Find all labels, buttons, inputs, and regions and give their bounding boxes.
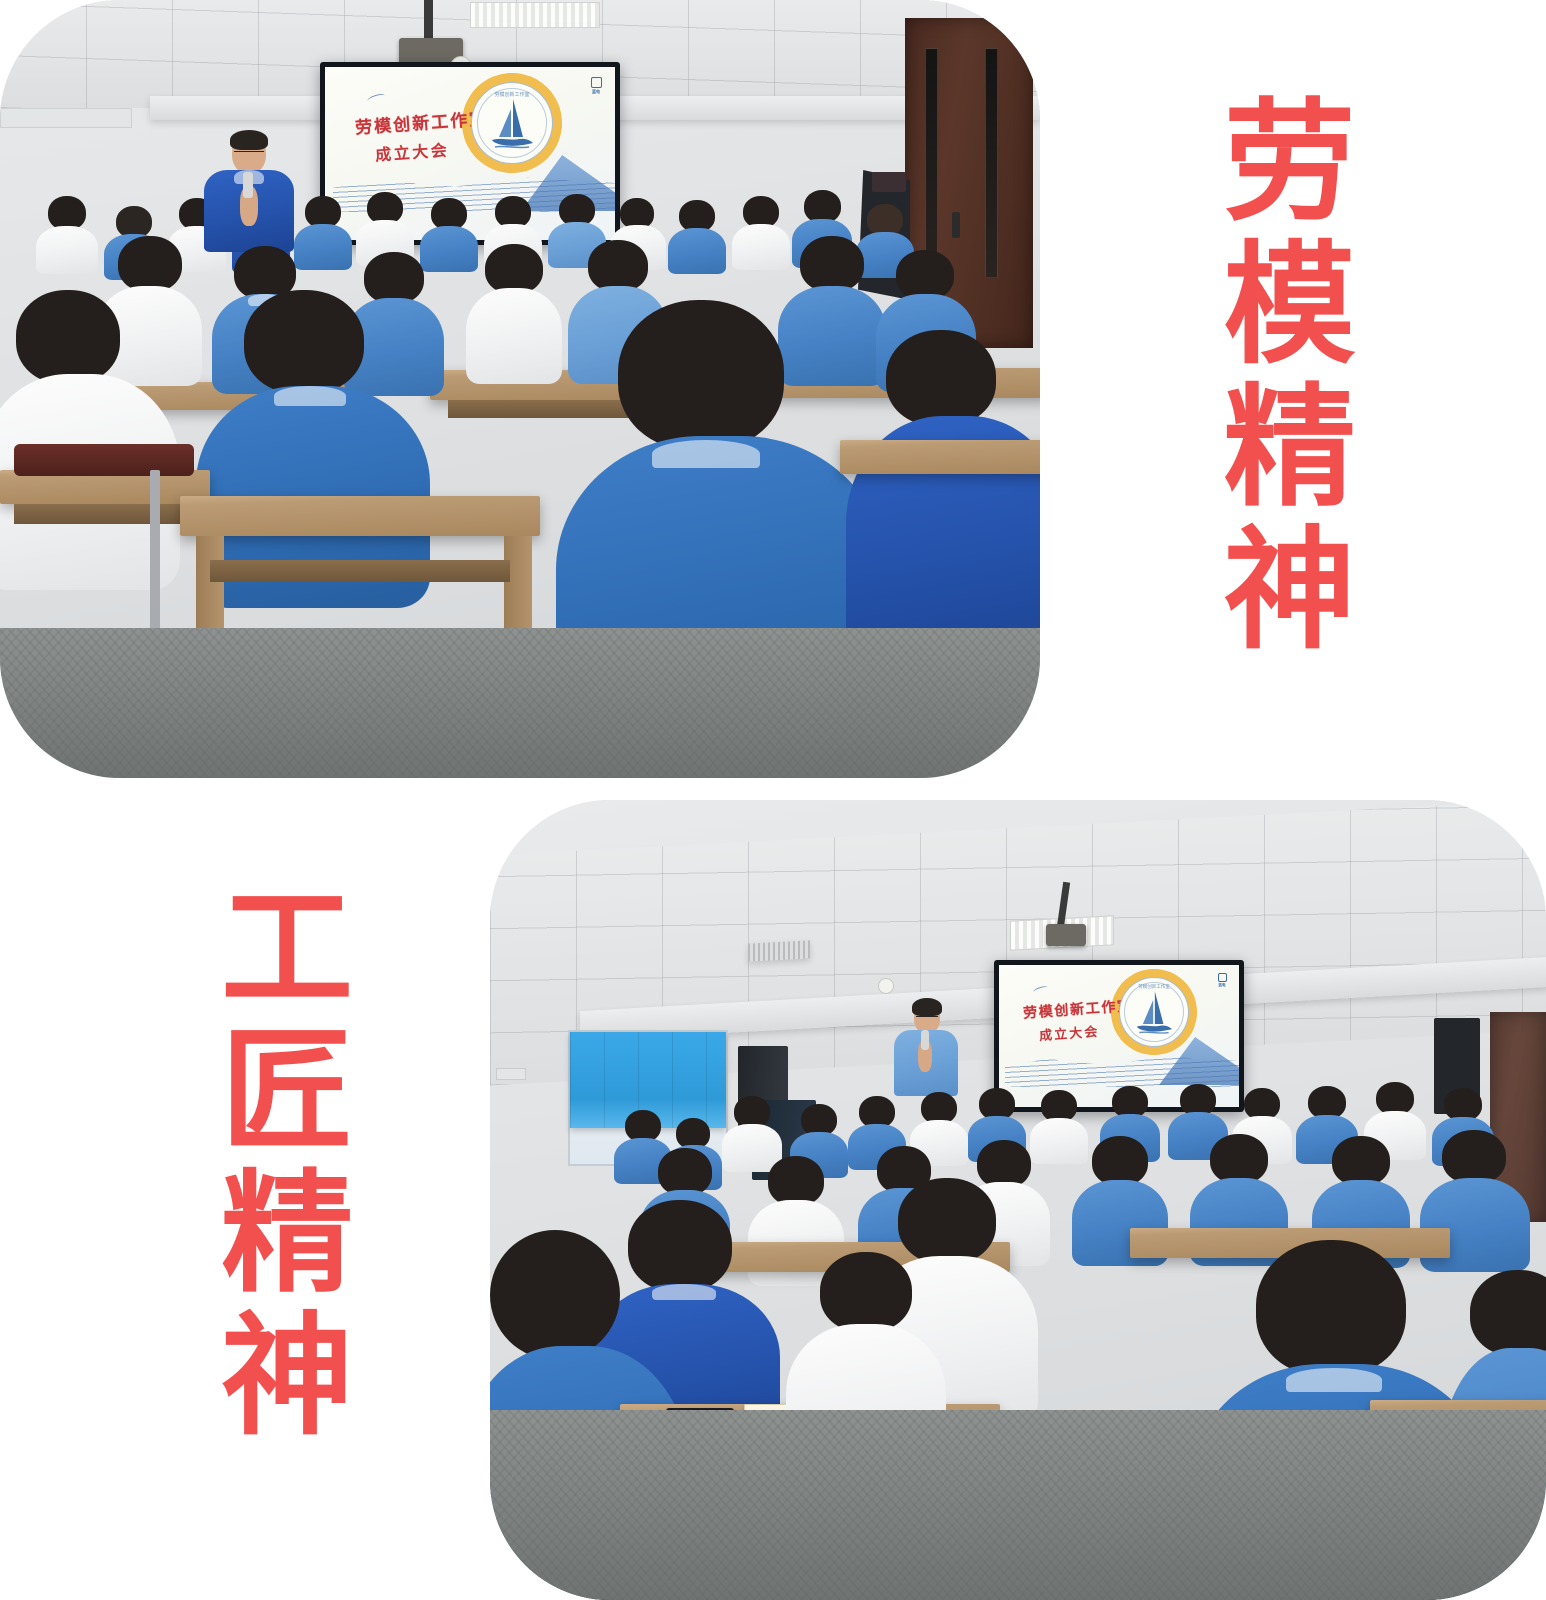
sailboat-icon [489, 95, 535, 151]
head [896, 250, 954, 300]
audience-member-front-right [846, 330, 1040, 660]
floor [490, 1410, 1546, 1600]
photo-top-scene: 劳模创新工作室 劳模创新工作室 成立大会 蓝电 [0, 0, 1040, 778]
door-handle-icon [952, 212, 960, 238]
caption-craftsman-spirit: 工匠精神 [190, 878, 362, 1448]
chair-backrest [14, 444, 194, 476]
head [658, 1148, 712, 1196]
ac-vent-icon [748, 940, 810, 961]
head [1210, 1134, 1268, 1184]
door-window-right [985, 48, 998, 278]
head [1092, 1136, 1148, 1186]
caption-labor-model-spirit: 劳模精神 [1192, 92, 1364, 662]
slide-logo-text: 蓝电 [1218, 983, 1225, 987]
audience-member [668, 200, 726, 274]
bird-graphic-icon [1032, 985, 1048, 995]
logo-mark-icon [1218, 973, 1227, 982]
head [490, 1230, 620, 1360]
head [588, 240, 648, 292]
slide-subtitle: 成立大会 [1038, 1021, 1100, 1044]
bird-graphic-icon [366, 92, 385, 104]
desk-foreground-mid [180, 496, 540, 536]
emblem-ring-text: 劳模创新工作室 [486, 91, 538, 98]
sailboat-icon [1134, 988, 1174, 1036]
ceiling-light-icon [470, 2, 600, 28]
torso [36, 226, 98, 274]
head [768, 1156, 824, 1206]
gear-emblem-icon: 劳模创新工作室 [462, 73, 562, 173]
smoke-detector-icon [878, 978, 894, 994]
photo-bottom-scene: 劳模创新工作室 劳模创新工作室 成立大会 蓝电 [490, 800, 1546, 1600]
wall-sign-panel [0, 108, 132, 128]
photo-top: 劳模创新工作室 劳模创新工作室 成立大会 蓝电 [0, 0, 1040, 778]
torso [668, 228, 726, 274]
head [1442, 1130, 1506, 1184]
audience-member [466, 244, 562, 384]
head [118, 236, 182, 292]
head [820, 1252, 912, 1332]
head [16, 290, 120, 384]
slide-corner-logo: 蓝电 [1212, 973, 1232, 988]
head [1256, 1240, 1406, 1376]
head [244, 290, 364, 394]
floor [0, 628, 1040, 778]
equipment-panel-icon [872, 172, 906, 192]
collar [652, 440, 760, 468]
collar [274, 386, 346, 406]
torso [466, 288, 562, 384]
slide-logo-text: 蓝电 [592, 89, 600, 94]
glasses-icon [916, 1016, 938, 1017]
door-window-left [925, 48, 938, 278]
presenter [888, 996, 964, 1096]
wall-switch-panel [496, 1068, 526, 1080]
desk-shelf [210, 560, 510, 582]
presenter-hair [230, 130, 268, 150]
head [1470, 1270, 1546, 1356]
glasses-icon [234, 151, 264, 152]
desk-foreground-right [840, 440, 1040, 474]
projector-icon [1046, 924, 1086, 946]
slide-corner-logo: 蓝电 [585, 77, 607, 94]
emblem-ring-text: 劳模创新工作室 [1131, 984, 1177, 990]
head [618, 300, 784, 450]
gear-emblem-icon: 劳模创新工作室 [1111, 969, 1197, 1055]
head [485, 244, 543, 294]
presenter [196, 126, 300, 252]
desk-shelf [14, 504, 200, 524]
slide-subtitle: 成立大会 [374, 136, 450, 165]
photo-bottom: 劳模创新工作室 劳模创新工作室 成立大会 蓝电 [490, 800, 1546, 1600]
microphone-icon [243, 172, 253, 198]
head [1332, 1136, 1390, 1186]
presenter-hair [912, 998, 942, 1016]
audience-member [36, 196, 98, 274]
head [800, 236, 864, 292]
poster-canvas: 劳模创新工作室 劳模创新工作室 成立大会 蓝电 [0, 0, 1546, 1600]
collar [1286, 1368, 1382, 1392]
head [886, 330, 996, 426]
microphone-icon [921, 1030, 929, 1050]
logo-mark-icon [591, 77, 602, 88]
head [48, 196, 86, 230]
